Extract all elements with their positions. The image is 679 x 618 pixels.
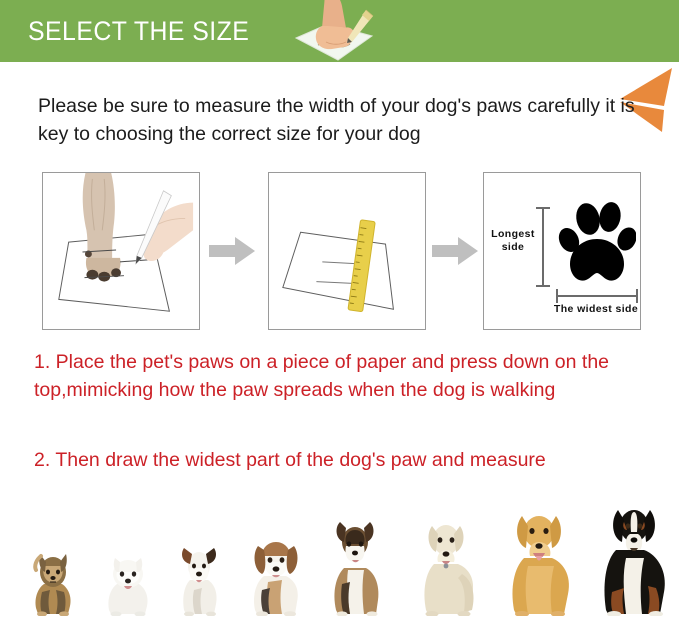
dog-golden-retriever [492, 496, 588, 616]
instruction-step-2: 2. Then draw the widest part of the dog'… [34, 446, 662, 474]
widest-side-label: The widest side [546, 303, 641, 315]
longest-side-label-line2: side [502, 241, 525, 253]
panel-paw-measurements: Longest side The widest side [483, 172, 641, 330]
instruction-step-1: 1. Place the pet's paws on a piece of pa… [34, 348, 662, 404]
dog-yorkshire-terrier [20, 532, 84, 616]
page-title: SELECT THE SIZE [28, 16, 249, 47]
longest-side-label-line1: Longest [491, 228, 535, 240]
dog-beagle [238, 516, 314, 616]
widest-side-cap-right [636, 289, 638, 303]
dog-bernese-mountain-dog [586, 492, 679, 616]
dog-breed-row [0, 494, 679, 618]
longest-side-cap-bottom [536, 285, 550, 287]
longest-side-cap-top [536, 207, 550, 209]
diagram-panel-row: Longest side The widest side [0, 172, 679, 332]
intro-paragraph: Please be sure to measure the width of y… [38, 93, 654, 148]
header-bar: SELECT THE SIZE [0, 0, 679, 62]
dog-west-highland-white-terrier [95, 536, 161, 616]
panel-measure-ruler [268, 172, 426, 330]
longest-side-label: Longest side [488, 228, 538, 254]
widest-side-measure-line [556, 295, 638, 297]
paw-print-icon [558, 195, 636, 291]
widest-side-cap-left [556, 289, 558, 303]
hand-writing-on-paper-icon [288, 0, 380, 64]
size-guide-page: SELECT THE SIZE [0, 0, 679, 618]
step-arrow-2-icon [432, 235, 478, 267]
dog-labrador-retriever [406, 504, 488, 616]
panel-trace-paw [42, 172, 200, 330]
dog-jack-russell-terrier [168, 524, 230, 616]
step-arrow-1-icon [209, 235, 255, 267]
dog-border-collie [320, 506, 392, 616]
longest-side-measure-line [542, 207, 544, 287]
